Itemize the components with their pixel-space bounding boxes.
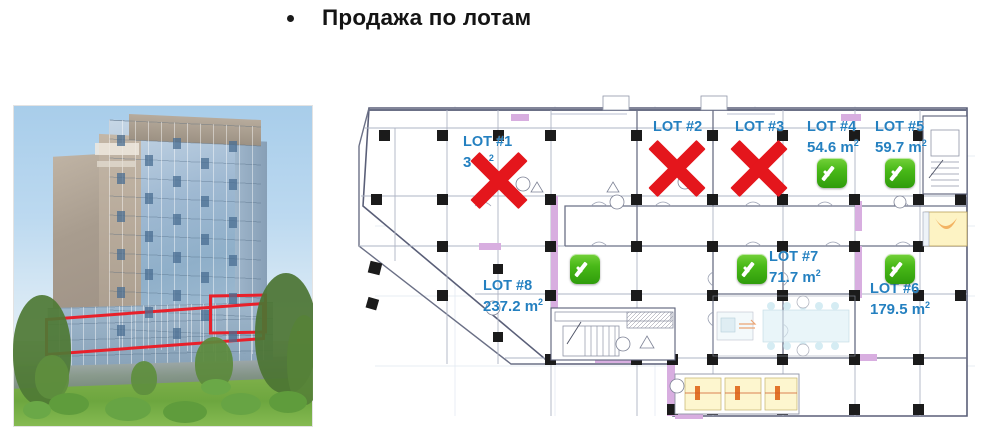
window bbox=[117, 325, 125, 336]
shrub bbox=[105, 397, 151, 421]
window bbox=[117, 173, 125, 184]
shrub bbox=[163, 401, 207, 423]
window bbox=[117, 287, 125, 298]
window bbox=[229, 179, 237, 190]
shrub bbox=[49, 393, 89, 415]
lot-label-lot-8: LOT #8 bbox=[483, 278, 532, 294]
window bbox=[173, 214, 181, 225]
stair-core-center bbox=[551, 308, 675, 360]
lot-label-lot-4: LOT #4 bbox=[807, 119, 856, 135]
window bbox=[145, 269, 153, 280]
window bbox=[145, 193, 153, 204]
page-title: Продажа по лотам bbox=[322, 5, 531, 31]
window bbox=[201, 272, 209, 283]
window bbox=[117, 211, 125, 222]
window bbox=[201, 234, 209, 245]
shrub bbox=[221, 393, 261, 415]
status-badge-sold-lot-1 bbox=[465, 146, 533, 214]
status-badge-available-lot-7 bbox=[737, 254, 767, 284]
lot-label-lot-2: LOT #2 bbox=[653, 119, 702, 135]
window bbox=[117, 135, 125, 146]
window bbox=[229, 141, 237, 152]
shrub bbox=[23, 401, 51, 419]
lot-area-lot-5: 59.7 m2 bbox=[875, 138, 927, 156]
window bbox=[229, 217, 237, 228]
status-badge-sold-lot-3 bbox=[725, 134, 793, 202]
window bbox=[229, 331, 237, 342]
window bbox=[145, 155, 153, 166]
stair-core-right bbox=[923, 116, 967, 194]
tree bbox=[131, 361, 157, 395]
shrub bbox=[269, 391, 307, 413]
window bbox=[173, 138, 181, 149]
lot-area-lot-4: 54.6 m2 bbox=[807, 138, 859, 156]
status-badge-sold-lot-2 bbox=[643, 134, 711, 202]
floor-plan-drawing: LOT #13 m2LOT #2LOT #3LOT #454.6 m2LOT #… bbox=[355, 86, 995, 430]
lot-label-lot-7: LOT #7 bbox=[769, 249, 818, 265]
lot-area-lot-6: 179.5 m2 bbox=[870, 300, 930, 318]
restroom-block bbox=[670, 374, 799, 414]
window bbox=[201, 310, 209, 321]
slide-title-row: Продажа по лотам bbox=[287, 2, 707, 34]
window bbox=[117, 249, 125, 260]
status-badge-available-lot-8 bbox=[570, 254, 600, 284]
window bbox=[201, 196, 209, 207]
window bbox=[201, 158, 209, 169]
lot-label-lot-3: LOT #3 bbox=[735, 119, 784, 135]
lot-area-lot-8: 237.2 m2 bbox=[483, 297, 543, 315]
window bbox=[173, 290, 181, 301]
window bbox=[173, 328, 181, 339]
lot-label-lot-5: LOT #5 bbox=[875, 119, 924, 135]
status-badge-available-lot-4 bbox=[817, 158, 847, 188]
window bbox=[145, 231, 153, 242]
status-badge-available-lot-5 bbox=[885, 158, 915, 188]
shrub bbox=[201, 379, 231, 395]
window bbox=[173, 252, 181, 263]
window bbox=[229, 293, 237, 304]
status-badge-available-lot-6 bbox=[885, 254, 915, 284]
window bbox=[229, 255, 237, 266]
window bbox=[173, 176, 181, 187]
window bbox=[145, 307, 153, 318]
lot-area-lot-7: 71.7 m2 bbox=[769, 268, 821, 286]
building-photo: (function(){ var p=document.getElementBy… bbox=[13, 105, 313, 427]
bullet-icon bbox=[287, 15, 294, 22]
